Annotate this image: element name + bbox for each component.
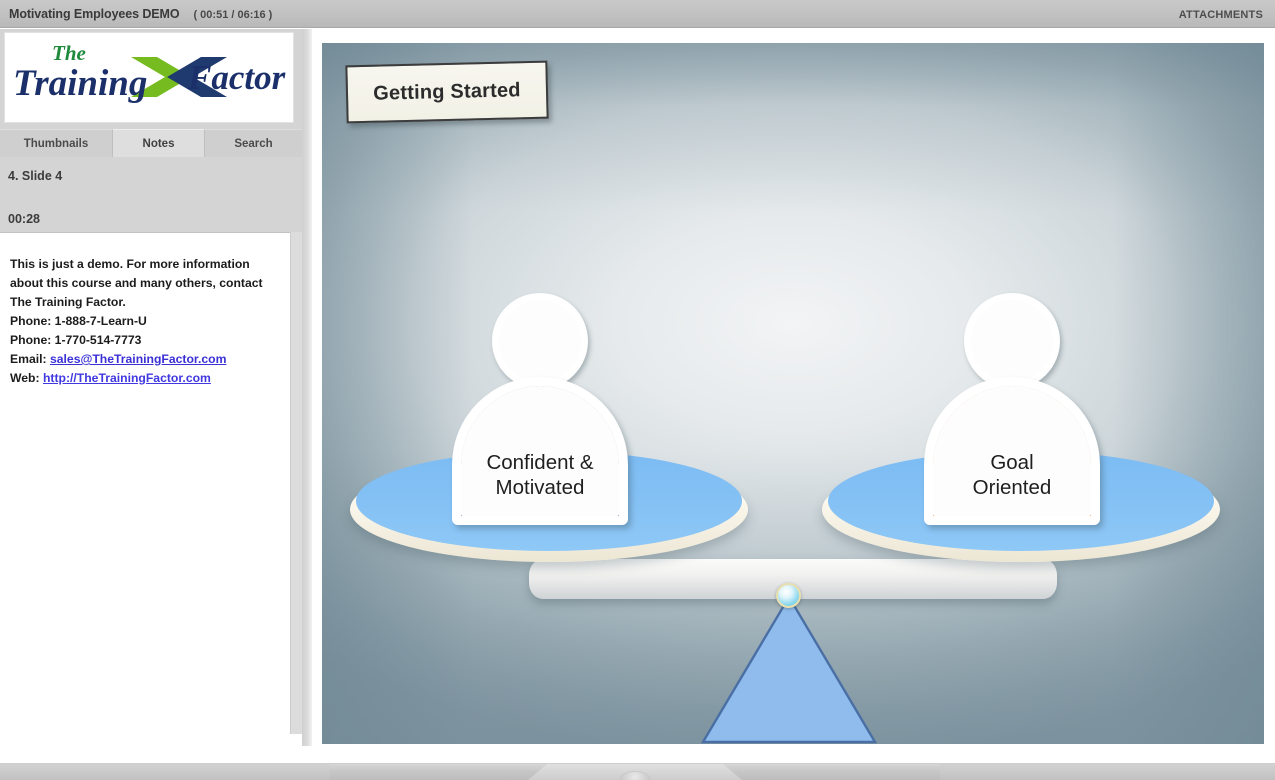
person-head-icon-right <box>964 293 1060 389</box>
figure-goal-oriented: Goal Oriented <box>919 293 1105 533</box>
notes-web-label: Web: <box>10 371 43 385</box>
sidebar-panel: The Training Factor Thumbnails Notes Sea… <box>0 29 302 763</box>
svg-text:Training: Training <box>13 63 147 104</box>
figure-label-right: Goal Oriented <box>973 450 1052 500</box>
person-head-fill-left <box>499 300 581 382</box>
fulcrum-triangle-icon <box>701 595 877 744</box>
person-body-right: Goal Oriented <box>924 377 1100 525</box>
panel-divider <box>302 29 312 763</box>
balance-scale-graphic: Confident & Motivated Goal Oriented <box>322 43 1264 744</box>
figure-label-left: Confident & Motivated <box>486 450 593 500</box>
slide-stage: Getting Started <box>320 41 1266 746</box>
notes-panel: This is just a demo. For more informatio… <box>0 232 290 763</box>
slide-canvas: Getting Started <box>322 43 1264 744</box>
notes-email-link[interactable]: sales@TheTrainingFactor.com <box>50 352 226 366</box>
current-slide-duration: 00:28 <box>8 212 40 226</box>
notes-scrollbar-track[interactable] <box>290 232 302 763</box>
current-slide-label: 4. Slide 4 <box>8 169 62 183</box>
notes-web-line: Web: http://TheTrainingFactor.com <box>10 369 280 388</box>
tab-thumbnails[interactable]: Thumbnails <box>0 129 113 157</box>
slide-meta: 4. Slide 4 00:28 <box>0 157 302 229</box>
tab-thumbnails-label: Thumbnails <box>24 138 89 150</box>
svg-text:The: The <box>52 41 86 65</box>
attachments-button[interactable]: ATTACHMENTS <box>1179 9 1263 21</box>
brand-logo: The Training Factor <box>4 32 294 123</box>
notes-phone-primary: Phone: 1-888-7-Learn-U <box>10 312 280 331</box>
svg-text:Factor: Factor <box>187 58 286 97</box>
player-topbar: Motivating Employees DEMO ( 00:51 / 06:1… <box>0 0 1275 28</box>
notes-phone-secondary: Phone: 1-770-514-7773 <box>10 331 280 350</box>
player-bar-left-section[interactable] <box>0 764 330 780</box>
tab-search[interactable]: Search <box>205 129 302 157</box>
notes-email-line: Email: sales@TheTrainingFactor.com <box>10 350 280 369</box>
topbar-right-group: ATTACHMENTS <box>1179 5 1275 23</box>
course-title: Motivating Employees DEMO <box>9 7 179 21</box>
person-body-left: Confident & Motivated <box>452 377 628 525</box>
stage-bottom-filler <box>302 746 1275 763</box>
notes-paragraph: This is just a demo. For more informatio… <box>10 255 280 312</box>
topbar-left-group: Motivating Employees DEMO ( 00:51 / 06:1… <box>0 7 272 21</box>
notes-content: This is just a demo. For more informatio… <box>10 255 280 388</box>
player-bar-right-section[interactable] <box>940 764 1275 780</box>
tab-notes-label: Notes <box>143 138 175 150</box>
balance-pivot-point <box>776 583 801 608</box>
playback-time-display: ( 00:51 / 06:16 ) <box>193 9 272 21</box>
sidebar-tabs: Thumbnails Notes Search <box>0 129 302 157</box>
elearning-player: Motivating Employees DEMO ( 00:51 / 06:1… <box>0 0 1275 780</box>
sidebar-bottom-filler <box>0 734 302 763</box>
tab-search-label: Search <box>234 138 272 150</box>
person-head-icon-left <box>492 293 588 389</box>
notes-web-link[interactable]: http://TheTrainingFactor.com <box>43 371 211 385</box>
tab-notes[interactable]: Notes <box>113 129 205 157</box>
training-factor-logo-icon: The Training Factor <box>5 33 293 122</box>
notes-email-label: Email: <box>10 352 50 366</box>
person-head-fill-right <box>971 300 1053 382</box>
figure-confident-motivated: Confident & Motivated <box>447 293 633 533</box>
